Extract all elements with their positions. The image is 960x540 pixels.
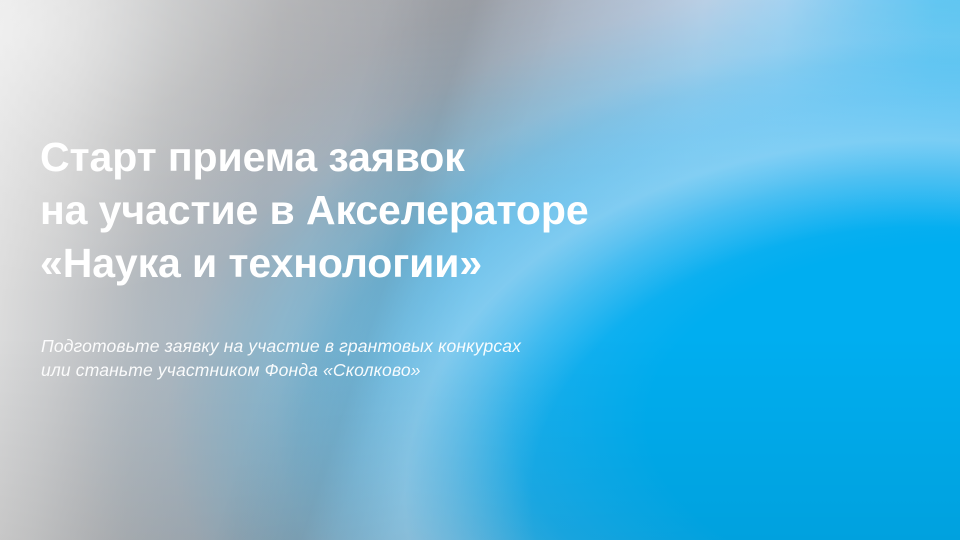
banner-subtitle: Подготовьте заявку на участие в грантовы… bbox=[41, 334, 521, 382]
banner-headline: Старт приема заявок на участие в Акселер… bbox=[40, 131, 589, 290]
headline-line-3: «Наука и технологии» bbox=[40, 237, 589, 290]
headline-line-1: Старт приема заявок bbox=[40, 131, 589, 184]
subtitle-line-2: или станьте участником Фонда «Сколково» bbox=[41, 358, 521, 382]
promo-banner: Старт приема заявок на участие в Акселер… bbox=[0, 0, 960, 540]
banner-content: Старт приема заявок на участие в Акселер… bbox=[40, 0, 680, 540]
subtitle-line-1: Подготовьте заявку на участие в грантовы… bbox=[41, 334, 521, 358]
headline-line-2: на участие в Акселераторе bbox=[40, 184, 589, 237]
